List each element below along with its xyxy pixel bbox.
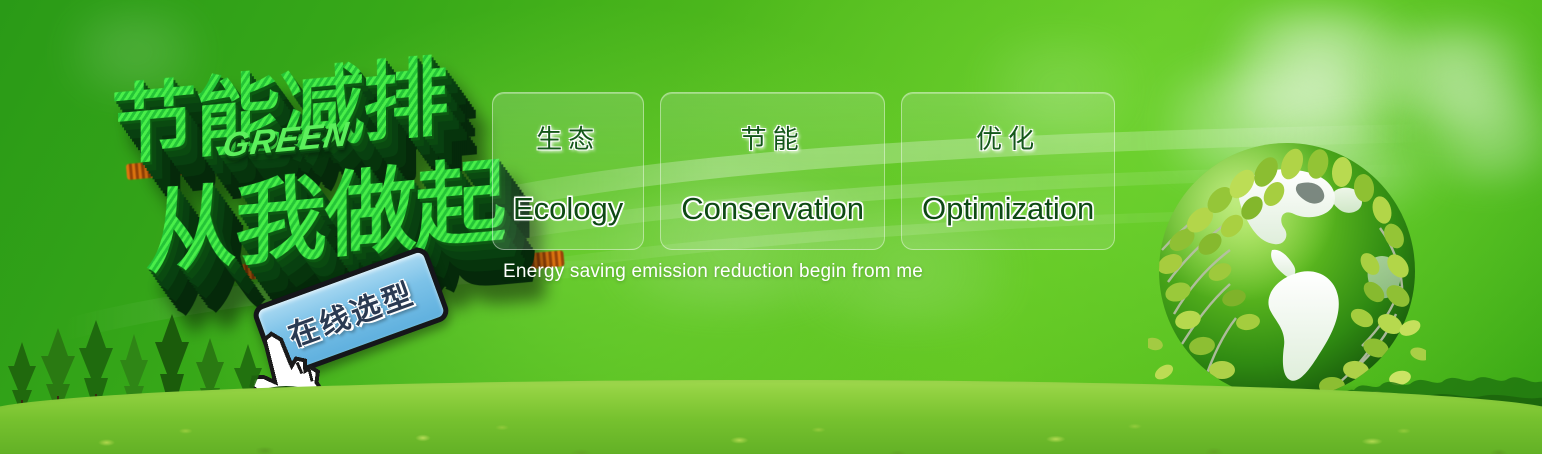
leafy-globe-icon xyxy=(1148,132,1426,410)
feature-card-cn-label: 优化 xyxy=(976,119,1040,156)
feature-card-cn-label: 生态 xyxy=(536,119,600,156)
ground-texture xyxy=(0,402,1542,454)
feature-card-ecology[interactable]: 生态 Ecology xyxy=(492,92,644,250)
cloud-icon xyxy=(1190,10,1450,130)
grass-field-icon xyxy=(0,380,1542,454)
feature-card-en-label: Conservation xyxy=(681,191,864,227)
headline-3d-text: 节能减排 GREEN 从我做起 xyxy=(89,22,522,295)
cloud-icon xyxy=(1350,28,1542,124)
feature-card-cn-label: 节能 xyxy=(741,119,805,156)
banner-tagline: Energy saving emission reduction begin f… xyxy=(503,261,923,283)
feature-card-optimization[interactable]: 优化 Optimization xyxy=(901,92,1115,250)
feature-card-en-label: Optimization xyxy=(922,191,1094,227)
feature-card-en-label: Ecology xyxy=(513,191,623,227)
feature-card-conservation[interactable]: 节能 Conservation xyxy=(660,92,885,250)
feature-card-row: 生态 Ecology 节能 Conservation 优化 Optimizati… xyxy=(492,92,1115,250)
eco-hero-banner: 节能减排 GREEN 从我做起 在线选型 生态 Ecology 节能 Conse… xyxy=(0,0,1542,454)
